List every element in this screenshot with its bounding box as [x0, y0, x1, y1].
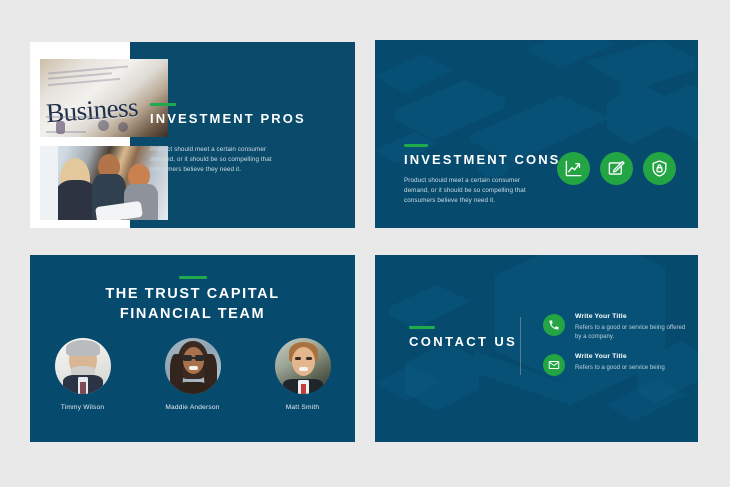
contact-subtitle: Refers to a good or service being offere… — [575, 323, 693, 342]
phone-icon[interactable] — [543, 314, 565, 336]
team-meeting-photo — [40, 146, 168, 220]
contact-title: Write Your Title — [575, 313, 693, 320]
shield-lock-icon[interactable] — [643, 152, 676, 185]
slide3-title-line2: FINANCIAL TEAM — [30, 304, 355, 324]
slide3-title-line1: THE TRUST CAPITAL — [30, 284, 355, 304]
avatar — [275, 338, 331, 394]
contact-list: Write Your Title Refers to a good or ser… — [543, 313, 693, 388]
member-name: Matt Smith — [269, 404, 337, 411]
slide3-title: THE TRUST CAPITAL FINANCIAL TEAM — [30, 284, 355, 324]
contact-item[interactable]: Write Your Title Refers to a good or ser… — [543, 313, 693, 341]
slide-investment-cons[interactable]: INVESTMENT CONS Product should meet a ce… — [375, 40, 698, 228]
slide-deck: Business INVESTMENT PROS Product should … — [0, 0, 730, 487]
contact-item[interactable]: Write Your Title Refers to a good or ser… — [543, 353, 693, 376]
slide-investment-pros[interactable]: Business INVESTMENT PROS Product should … — [30, 42, 355, 228]
member-name: Timmy Wilson — [49, 404, 117, 411]
slide2-accent-bar — [404, 144, 428, 147]
contact-title: Write Your Title — [575, 353, 665, 360]
slide4-accent-bar — [409, 326, 435, 329]
team-member[interactable]: Maddie Anderson — [159, 338, 227, 411]
member-name: Maddie Anderson — [159, 404, 227, 411]
contact-text: Write Your Title Refers to a good or ser… — [575, 313, 693, 341]
slide2-icon-row — [557, 152, 676, 185]
team-member-row: Timmy Wilson Maddie Anderson — [30, 338, 355, 411]
growth-chart-icon[interactable] — [557, 152, 590, 185]
envelope-icon[interactable] — [543, 354, 565, 376]
slide1-title: INVESTMENT PROS — [150, 111, 355, 127]
slide1-body-text: Product should meet a certain consumer d… — [150, 145, 285, 176]
slide3-accent-bar — [179, 276, 207, 279]
team-member[interactable]: Matt Smith — [269, 338, 337, 411]
avatar — [55, 338, 111, 394]
newspaper-photo: Business — [40, 59, 168, 137]
notepad-pen-icon[interactable] — [600, 152, 633, 185]
slide2-body-text: Product should meet a certain consumer d… — [404, 176, 544, 207]
avatar — [165, 338, 221, 394]
vertical-divider — [520, 317, 521, 375]
slide1-accent-bar — [150, 103, 176, 106]
slide-financial-team[interactable]: THE TRUST CAPITAL FINANCIAL TEAM Timmy W… — [30, 255, 355, 442]
team-member[interactable]: Timmy Wilson — [49, 338, 117, 411]
slide-contact-us[interactable]: CONTACT US Write Your Title Refers to a … — [375, 255, 698, 442]
contact-text: Write Your Title Refers to a good or ser… — [575, 353, 665, 372]
contact-subtitle: Refers to a good or service being — [575, 363, 665, 372]
